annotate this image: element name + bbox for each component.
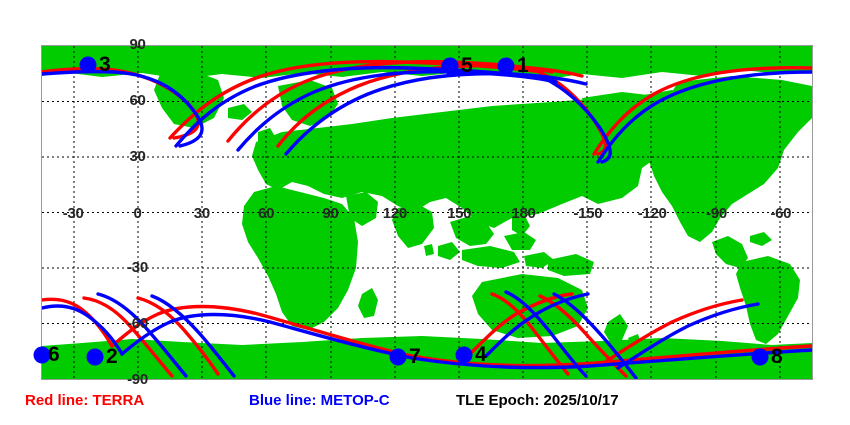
satellite-marker-label-1: 1 [517, 54, 528, 78]
satellite-marker-1[interactable] [498, 58, 515, 75]
satellite-marker-label-6: 6 [48, 343, 59, 367]
lon-tick-label-8: -150 [573, 205, 602, 222]
lon-tick-label-0: -30 [63, 205, 84, 222]
satellite-tracker-map: -300306090120150180-150-120-90-60 906030… [0, 0, 850, 425]
map-canvas [42, 46, 812, 379]
legend-tle-epoch: TLE Epoch: 2025/10/17 [456, 392, 619, 409]
lat-tick-label-0: 90 [129, 36, 145, 53]
lat-tick-label-1: 60 [129, 92, 145, 109]
map-legend: Red line: TERRA Blue line: METOP-C TLE E… [0, 392, 850, 418]
satellite-marker-4[interactable] [456, 347, 473, 364]
lon-tick-label-2: 30 [194, 205, 210, 222]
lon-tick-label-9: -120 [638, 205, 667, 222]
legend-red-line: Red line: TERRA [25, 392, 144, 409]
satellite-marker-8[interactable] [752, 349, 769, 366]
lon-tick-label-6: 150 [447, 205, 471, 222]
satellite-marker-label-5: 5 [461, 54, 472, 78]
lat-tick-label-5: -90 [127, 371, 148, 388]
lon-tick-label-11: -60 [770, 205, 791, 222]
satellite-marker-2[interactable] [87, 349, 104, 366]
satellite-marker-3[interactable] [80, 57, 97, 74]
lat-tick-label-2: 30 [129, 148, 145, 165]
satellite-marker-5[interactable] [442, 58, 459, 75]
lon-tick-label-1: 0 [133, 205, 141, 222]
lon-tick-label-4: 90 [322, 205, 338, 222]
satellite-marker-7[interactable] [390, 349, 407, 366]
lat-tick-label-4: -60 [127, 315, 148, 332]
lon-tick-label-7: 180 [511, 205, 535, 222]
lat-tick-label-3: -30 [127, 259, 148, 276]
world-map-plot[interactable] [41, 45, 813, 380]
lon-tick-label-3: 60 [258, 205, 274, 222]
lon-tick-label-10: -90 [706, 205, 727, 222]
lon-tick-label-5: 120 [383, 205, 407, 222]
satellite-marker-label-4: 4 [475, 343, 486, 367]
legend-blue-line: Blue line: METOP-C [249, 392, 390, 409]
satellite-marker-label-7: 7 [409, 345, 420, 369]
satellite-marker-label-3: 3 [99, 53, 110, 77]
satellite-marker-label-2: 2 [106, 345, 117, 369]
satellite-marker-label-8: 8 [771, 345, 782, 369]
